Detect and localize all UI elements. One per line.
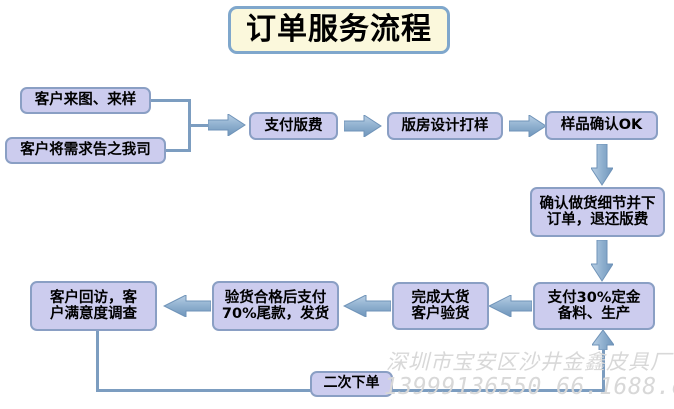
node-confirm-order-label-line2: 订单，退还版费 (547, 212, 649, 228)
watermark-shop-url: 13999136550 66.1688.com (384, 374, 674, 400)
node-source-drawing[interactable]: 客户来图、来样 (20, 87, 151, 114)
arrow-right-icon-sources-to-payfee (208, 114, 246, 136)
node-reorder-label: 二次下单 (324, 376, 380, 392)
node-source-request-label: 客户将需求告之我司 (20, 142, 151, 158)
connector-bracket-to-arrow (188, 124, 210, 127)
node-followup-label-line1: 客户回访，客 (50, 290, 137, 306)
arrow-right-icon-design-to-sampleok (509, 115, 547, 137)
node-bulk-done-label-line1: 完成大货 (412, 290, 470, 306)
node-pay-deposit-label-line2: 备料、生产 (558, 306, 631, 322)
node-confirm-order[interactable]: 确认做货细节并下 订单，退还版费 (530, 187, 665, 237)
node-confirm-order-label-line1: 确认做货细节并下 (540, 196, 656, 212)
node-sample-ok[interactable]: 样品确认OK (545, 111, 658, 140)
node-plate-design-label: 版房设计打样 (402, 118, 489, 134)
arrow-left-icon-deposit-to-bulkdone (488, 295, 532, 317)
arrow-down-icon-sampleok-to-confirm (591, 144, 613, 186)
chart-title-box: 订单服务流程 (228, 6, 450, 54)
node-reorder[interactable]: 二次下单 (310, 371, 393, 397)
node-followup-label-line2: 户满意度调查 (50, 306, 137, 322)
node-pay-plate-fee-label: 支付版费 (265, 118, 323, 134)
node-source-request[interactable]: 客户将需求告之我司 (5, 137, 166, 164)
arrow-down-icon-confirm-to-deposit (591, 240, 613, 282)
arrow-left-icon-bulkdone-to-balance (343, 295, 391, 317)
node-sample-ok-label: 样品确认OK (561, 117, 643, 133)
connector-drawing-to-bracket (151, 99, 191, 102)
connector-followup-down (96, 331, 99, 392)
node-bulk-done-label-line2: 客户验货 (412, 306, 470, 322)
arrow-right-icon-payfee-to-design (344, 115, 382, 137)
node-followup[interactable]: 客户回访，客 户满意度调查 (30, 281, 157, 331)
node-bulk-done[interactable]: 完成大货 客户验货 (392, 282, 489, 330)
node-plate-design[interactable]: 版房设计打样 (387, 112, 503, 140)
node-pay-balance[interactable]: 验货合格后支付 70%尾款，发货 (212, 281, 339, 331)
watermark-company: 深圳市宝安区沙井金鑫皮具厂 (386, 346, 672, 376)
page-title: 订单服务流程 (246, 15, 432, 45)
arrow-left-icon-balance-to-followup (163, 295, 211, 317)
flowchart-canvas: 订单服务流程 客户来图、来样 客户将需求告之我司 支付版费 (0, 0, 674, 409)
node-pay-plate-fee[interactable]: 支付版费 (249, 112, 338, 140)
node-pay-balance-label-line2: 70%尾款，发货 (222, 306, 329, 322)
node-pay-deposit-label-line1: 支付30%定金 (548, 290, 641, 306)
node-pay-deposit[interactable]: 支付30%定金 备料、生产 (533, 282, 655, 330)
node-source-drawing-label: 客户来图、来样 (35, 92, 137, 108)
node-pay-balance-label-line1: 验货合格后支付 (225, 290, 327, 306)
